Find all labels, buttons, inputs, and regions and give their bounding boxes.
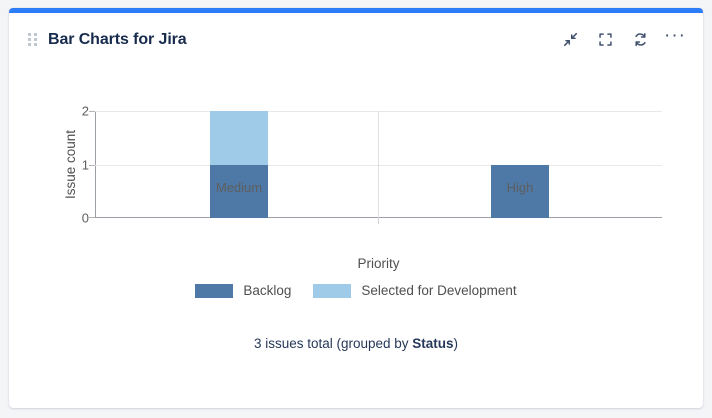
summary-group-field: Status xyxy=(412,336,453,351)
x-axis-title: Priority xyxy=(95,256,662,271)
gridline-category-divider xyxy=(378,111,379,218)
card-header: Bar Charts for Jira xyxy=(9,13,703,66)
x-tick-divider xyxy=(378,218,379,224)
chart-legend: Backlog Selected for Development xyxy=(9,283,703,298)
summary-suffix: ) xyxy=(454,336,459,351)
y-tick-mark-1 xyxy=(89,165,95,166)
y-tick-label-1: 1 xyxy=(59,157,89,172)
header-actions: ··· xyxy=(560,30,685,50)
refresh-icon[interactable] xyxy=(630,30,650,50)
x-tick-label-medium: Medium xyxy=(216,180,262,195)
y-tick-label-0: 0 xyxy=(59,211,89,226)
y-tick-label-2: 2 xyxy=(59,104,89,119)
fullscreen-icon[interactable] xyxy=(595,30,615,50)
summary-prefix: 3 issues total (grouped by xyxy=(254,336,412,351)
legend-label-backlog: Backlog xyxy=(243,283,291,298)
more-options-icon[interactable]: ··· xyxy=(665,30,685,50)
chart-container: Issue count 0 1 2 Medium High Priority xyxy=(9,66,703,408)
bar-medium-selected-for-development[interactable] xyxy=(210,111,268,165)
legend-label-selected-for-development: Selected for Development xyxy=(361,283,516,298)
y-tick-mark-2 xyxy=(89,111,95,112)
more-options-glyph: ··· xyxy=(664,31,686,49)
legend-item-selected-for-development[interactable]: Selected for Development xyxy=(313,283,516,298)
collapse-icon[interactable] xyxy=(560,30,580,50)
x-tick-label-high: High xyxy=(507,180,534,195)
page-title: Bar Charts for Jira xyxy=(48,31,187,49)
issues-summary: 3 issues total (grouped by Status) xyxy=(9,336,703,351)
bar-charts-gadget-card: Bar Charts for Jira xyxy=(9,8,703,408)
legend-swatch-selected-for-development xyxy=(313,284,351,298)
y-tick-mark-0 xyxy=(89,217,95,218)
plot-area xyxy=(95,111,662,218)
drag-handle-icon[interactable] xyxy=(28,32,38,48)
legend-item-backlog[interactable]: Backlog xyxy=(195,283,291,298)
legend-swatch-backlog xyxy=(195,284,233,298)
